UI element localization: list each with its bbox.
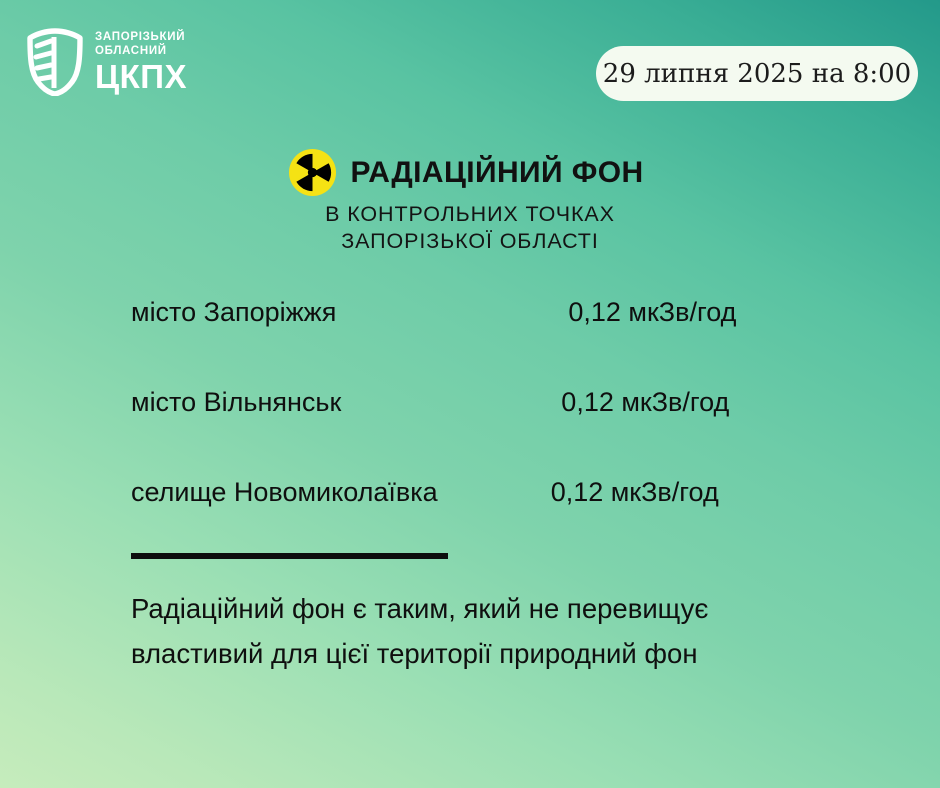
footnote-block: Радіаційний фон є таким, який не перевищ… bbox=[131, 586, 921, 676]
page-title: РАДІАЦІЙНИЙ ФОН bbox=[350, 157, 643, 189]
measurement-value: 0,12 мкЗв/год bbox=[551, 477, 719, 507]
organization-logo: ЗАПОРІЗЬКИЙ ОБЛАСНИЙ ЦКПХ bbox=[24, 28, 187, 96]
measurement-value: 0,12 мкЗв/год bbox=[561, 387, 729, 417]
measurement-location: місто Вільнянськ bbox=[131, 387, 341, 417]
heading-main-row: РАДІАЦІЙНИЙ ФОН bbox=[288, 148, 643, 197]
shield-icon bbox=[24, 28, 86, 96]
measurement-row: місто Вільнянськ 0,12 мкЗв/год bbox=[131, 387, 871, 477]
measurement-list: місто Запоріжжя 0,12 мкЗв/год місто Віль… bbox=[131, 297, 871, 567]
subtitle-line-1: В КОНТРОЛЬНИХ ТОЧКАХ bbox=[325, 201, 615, 228]
logo-acronym: ЦКПХ bbox=[95, 60, 187, 93]
section-divider bbox=[131, 553, 448, 559]
date-badge-text: 29 липня 2025 на 8:00 bbox=[603, 61, 911, 87]
logo-line-2: ОБЛАСНИЙ bbox=[95, 45, 187, 59]
radiation-icon bbox=[288, 148, 337, 197]
measurement-location: селище Новомиколаївка bbox=[131, 477, 438, 507]
logo-text-block: ЗАПОРІЗЬКИЙ ОБЛАСНИЙ ЦКПХ bbox=[95, 31, 187, 93]
subtitle-line-2: ЗАПОРІЗЬКОЇ ОБЛАСТІ bbox=[341, 228, 598, 255]
measurement-location: місто Запоріжжя bbox=[131, 297, 336, 327]
logo-line-1: ЗАПОРІЗЬКИЙ bbox=[95, 31, 187, 45]
heading-block: РАДІАЦІЙНИЙ ФОН В КОНТРОЛЬНИХ ТОЧКАХ ЗАП… bbox=[0, 148, 940, 255]
measurement-value: 0,12 мкЗв/год bbox=[568, 297, 736, 327]
measurement-row: місто Запоріжжя 0,12 мкЗв/год bbox=[131, 297, 871, 387]
date-badge: 29 липня 2025 на 8:00 bbox=[596, 46, 918, 101]
radiation-report-card: ЗАПОРІЗЬКИЙ ОБЛАСНИЙ ЦКПХ 29 липня 2025 … bbox=[0, 0, 940, 788]
footnote-line-2: властивий для цієї території природний ф… bbox=[131, 631, 921, 676]
footnote-line-1: Радіаційний фон є таким, який не перевищ… bbox=[131, 586, 921, 631]
